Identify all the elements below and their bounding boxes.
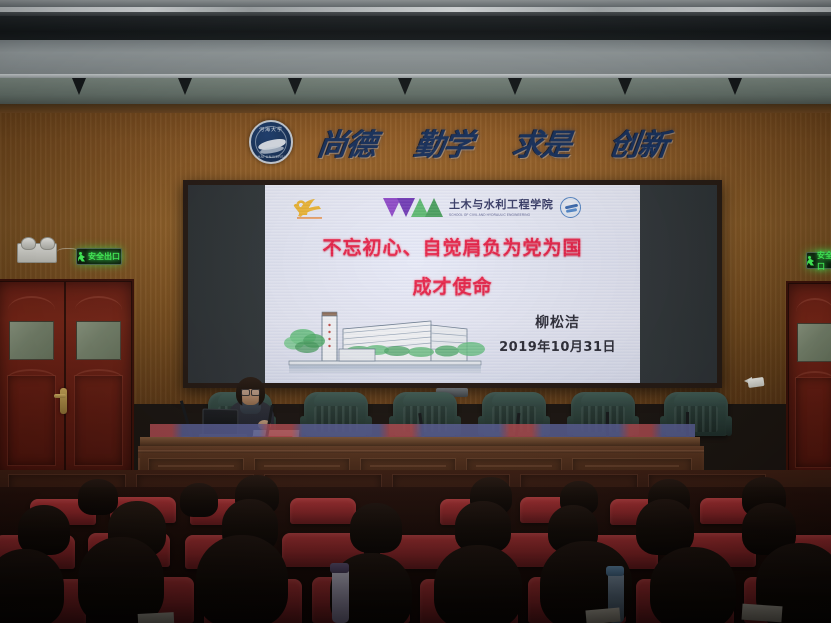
chair-headrest <box>492 393 544 406</box>
spotlight-icon <box>728 78 742 95</box>
door-leaf-left[interactable] <box>0 281 65 477</box>
slide-header: 土木与水利工程学院 SCHOOL OF CIVIL AND HYDRAULIC … <box>265 193 640 223</box>
emblem-top-text: 河海大学 <box>251 126 291 133</box>
spotlight-icon <box>398 78 412 95</box>
college-name-en: SCHOOL OF CIVIL AND HYDRAULIC ENGINEERIN… <box>449 212 553 217</box>
door-glass-panel <box>76 321 120 360</box>
audience-head-foreground <box>78 537 164 623</box>
wall-top-molding <box>0 104 831 113</box>
college-badge-icon <box>560 197 581 218</box>
chair-headrest <box>403 393 455 406</box>
lecture-hall-scene: 河海大学 HOHAI UNIVERSITY 尚德 勤学 求是 创新 安全出口 安… <box>0 0 831 623</box>
motto-word-3: 求是 <box>510 120 573 164</box>
chair-armrest-right <box>726 416 732 436</box>
spotlight-icon <box>288 78 302 95</box>
college-logo: 土木与水利工程学院 SCHOOL OF CIVIL AND HYDRAULIC … <box>383 197 581 218</box>
wall-motto: 尚德 勤学 求是 创新 <box>318 118 668 166</box>
water-bottle[interactable] <box>332 569 349 623</box>
audience-head <box>78 479 118 515</box>
chair-headrest <box>581 393 633 406</box>
triangle-green-2 <box>425 198 443 217</box>
exit-sign-left-label: 安全出口 <box>88 251 120 262</box>
exit-sign-right: 安全出口 <box>806 252 831 269</box>
spotlight-icon <box>508 78 522 95</box>
audience-head <box>18 505 70 555</box>
spotlight-icon <box>618 78 632 95</box>
slide-title-line-2: 成才使命 <box>265 272 640 299</box>
door-arch-decor <box>8 296 55 310</box>
door-leaf-right[interactable] <box>65 281 132 477</box>
presenter-date: 2019年10月31日 <box>499 336 616 355</box>
door-lower-panel <box>7 375 56 466</box>
university-emblem: 河海大学 HOHAI UNIVERSITY <box>249 120 293 164</box>
spotlight-icon <box>178 78 192 95</box>
camera-body <box>747 377 764 388</box>
hammer-and-sickle-icon <box>291 195 331 221</box>
glasses-icon <box>241 389 260 394</box>
chair-headrest <box>314 393 366 406</box>
triangle-mark-icon <box>383 198 443 217</box>
door-arch-decor <box>75 296 122 310</box>
door-glass-panel <box>9 321 53 360</box>
door-handle[interactable] <box>60 388 67 414</box>
presenter-name: 柳松洁 <box>499 312 616 332</box>
exit-sign-right-label: 安全出口 <box>817 250 831 272</box>
door-leaf-single[interactable] <box>788 283 831 479</box>
security-camera <box>744 377 766 388</box>
door-glass-panel <box>797 323 831 362</box>
presenter-block: 柳松洁 2019年10月31日 <box>499 312 616 355</box>
emblem-bottom-text: HOHAI UNIVERSITY <box>251 155 291 159</box>
motto-word-4: 创新 <box>607 120 670 164</box>
audience-head-foreground <box>434 545 522 623</box>
audience-head <box>180 483 218 517</box>
table-molding <box>138 450 704 453</box>
notebook-paper <box>138 612 175 623</box>
ceiling-soffit <box>0 78 831 106</box>
screen-display-area: 土木与水利工程学院 SCHOOL OF CIVIL AND HYDRAULIC … <box>188 185 717 383</box>
running-man-icon <box>807 256 815 266</box>
door-lower-panel <box>74 375 123 466</box>
exit-sign-left: 安全出口 <box>76 248 122 265</box>
ceiling-light-strip <box>0 7 831 12</box>
audience-seat[interactable] <box>290 498 356 524</box>
door-lower-panel <box>795 377 831 468</box>
double-door-right[interactable] <box>786 281 831 481</box>
college-name-zh: 土木与水利工程学院 <box>449 199 553 211</box>
ceiling-beam-light <box>0 40 831 76</box>
audience-head-foreground <box>650 547 736 623</box>
letterbox-right <box>630 185 717 383</box>
notebook-paper <box>585 608 620 623</box>
chair-headrest <box>674 393 726 406</box>
audience-head-foreground <box>196 535 288 623</box>
bottle-cap <box>330 563 349 573</box>
college-name-block: 土木与水利工程学院 SCHOOL OF CIVIL AND HYDRAULIC … <box>449 199 553 216</box>
audience-seating-area <box>0 487 831 623</box>
motto-word-2: 勤学 <box>413 120 476 164</box>
double-door-left[interactable] <box>0 279 134 479</box>
projection-screen[interactable]: 土木与水利工程学院 SCHOOL OF CIVIL AND HYDRAULIC … <box>183 180 722 388</box>
slide-title-line-1: 不忘初心、自觉肩负为党为国 <box>265 233 640 260</box>
audience-head <box>350 503 402 553</box>
notebook-paper <box>741 604 782 623</box>
spotlight-icon <box>72 78 86 95</box>
presentation-slide: 土木与水利工程学院 SCHOOL OF CIVIL AND HYDRAULIC … <box>265 185 640 383</box>
motto-word-1: 尚德 <box>315 120 378 164</box>
campus-building-illustration <box>281 303 491 375</box>
emergency-light <box>17 243 57 263</box>
bottle-cap <box>606 566 624 576</box>
door-arch-decor <box>796 298 831 312</box>
running-man-icon <box>78 252 86 262</box>
letterbox-left <box>188 185 265 383</box>
